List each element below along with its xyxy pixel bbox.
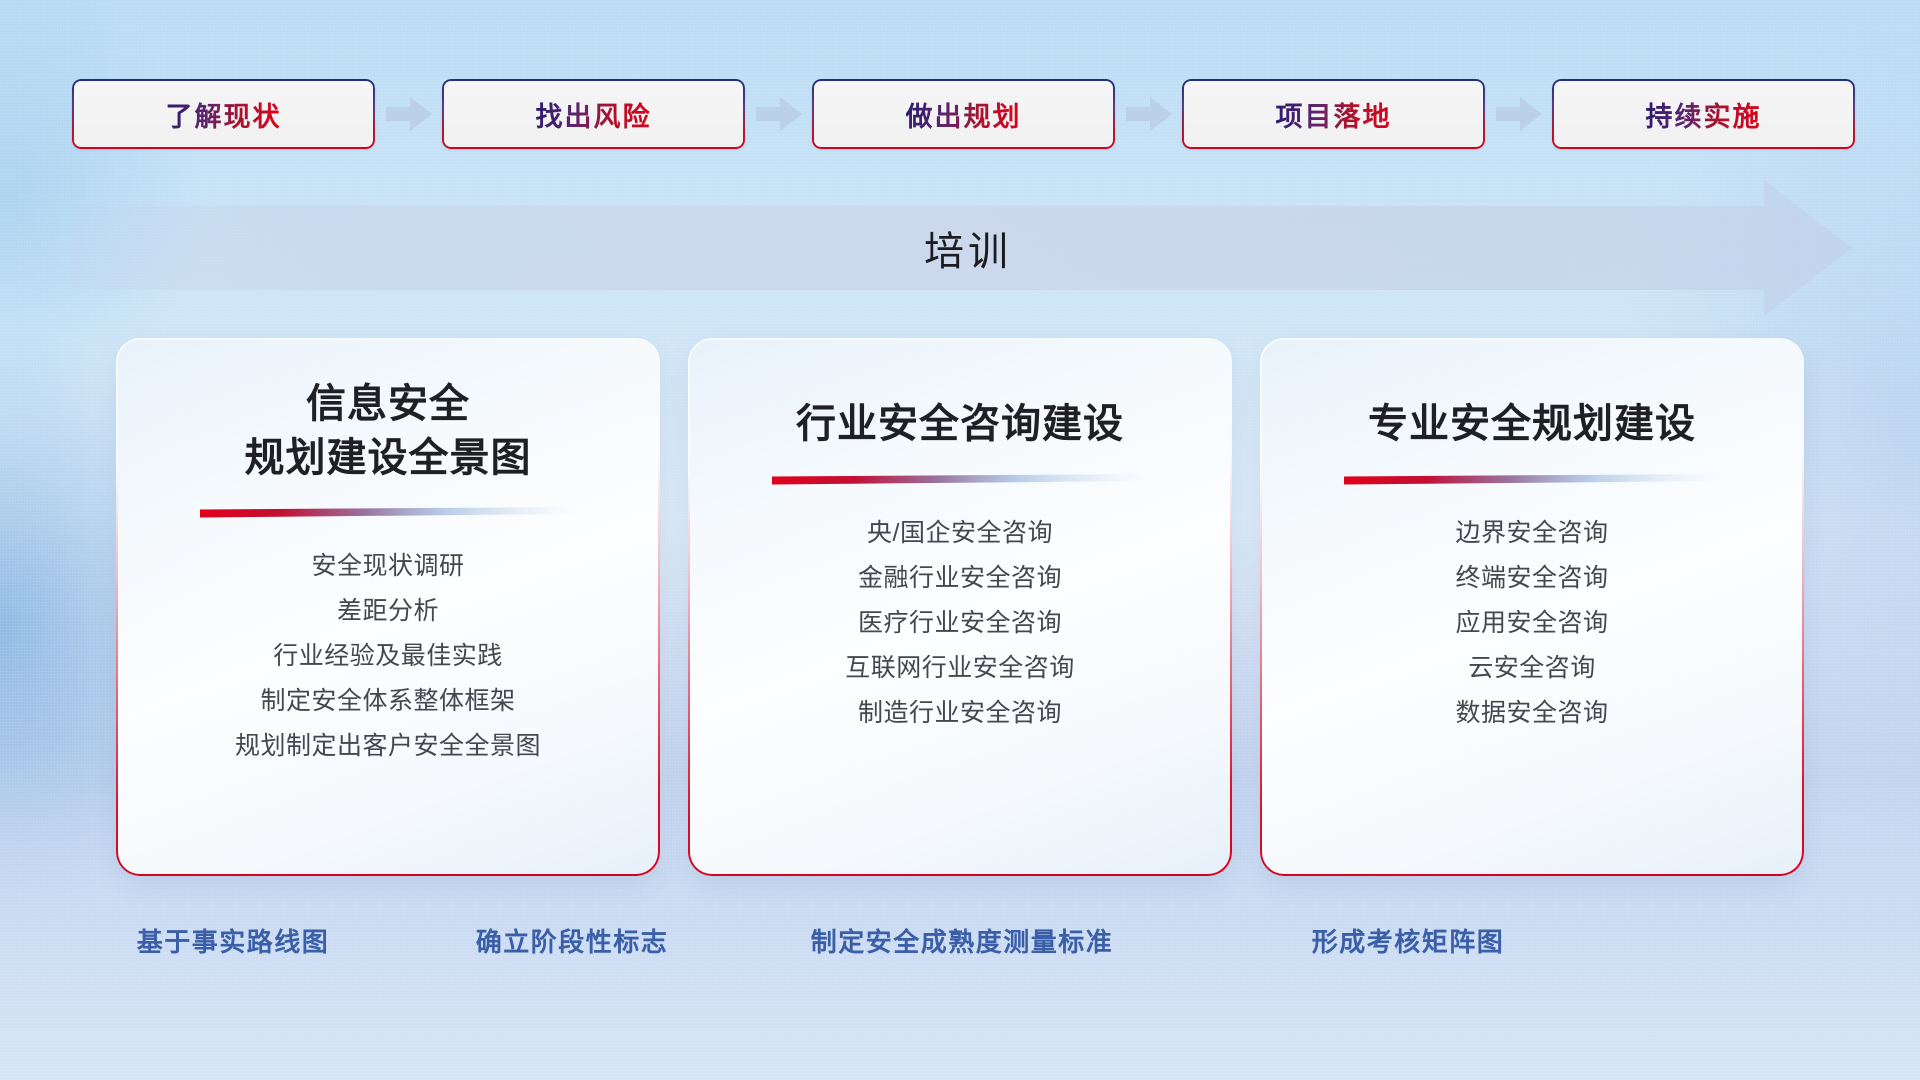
card-inner: 行业安全咨询建设 — [690, 340, 1230, 874]
list-item: 终端安全咨询 — [1262, 556, 1802, 601]
card-item-list: 央/国企安全咨询 金融行业安全咨询 医疗行业安全咨询 互联网行业安全咨询 制造行… — [690, 511, 1230, 736]
card-divider — [1344, 474, 1720, 485]
process-step-2[interactable]: 找出风险 — [442, 79, 745, 149]
list-item: 数据安全咨询 — [1262, 691, 1802, 736]
list-item: 制定安全体系整体框架 — [118, 679, 658, 724]
card-title: 行业安全咨询建设 — [690, 398, 1230, 452]
process-step-label: 做出规划 — [906, 95, 1022, 134]
caption-roadmap: 基于事实路线图 — [118, 905, 348, 975]
card-title-line-1: 信息安全 — [118, 378, 658, 432]
caption-assessment-matrix: 形成考核矩阵图 — [1268, 905, 1548, 975]
card-divider — [772, 474, 1148, 485]
list-item: 医疗行业安全咨询 — [690, 601, 1230, 646]
card-info-security-panorama[interactable]: 信息安全 规划建设全景图 — [118, 340, 658, 874]
card-title: 专业安全规划建设 — [1262, 398, 1802, 452]
list-item: 制造行业安全咨询 — [690, 691, 1230, 736]
card-item-list: 边界安全咨询 终端安全咨询 应用安全咨询 云安全咨询 数据安全咨询 — [1262, 511, 1802, 736]
process-step-4[interactable]: 项目落地 — [1182, 79, 1485, 149]
process-step-label: 持续实施 — [1646, 95, 1762, 134]
list-item: 应用安全咨询 — [1262, 601, 1802, 646]
arrow-right-icon — [1115, 79, 1182, 149]
list-item: 互联网行业安全咨询 — [690, 646, 1230, 691]
caption-milestones: 确立阶段性标志 — [452, 905, 692, 975]
list-item: 行业经验及最佳实践 — [118, 634, 658, 679]
list-item: 金融行业安全咨询 — [690, 556, 1230, 601]
list-item: 差距分析 — [118, 589, 658, 634]
card-divider — [200, 507, 576, 518]
arrow-right-icon — [745, 79, 812, 149]
card-inner: 信息安全 规划建设全景图 — [118, 340, 658, 874]
process-step-label: 找出风险 — [536, 95, 652, 134]
process-step-5[interactable]: 持续实施 — [1552, 79, 1855, 149]
process-step-label: 了解现状 — [166, 95, 282, 134]
training-banner-label: 培训 — [0, 178, 1920, 318]
caption-maturity-standard: 制定安全成熟度测量标准 — [762, 905, 1162, 975]
card-professional-security-planning[interactable]: 专业安全规划建设 — [1262, 340, 1802, 874]
card-item-list: 安全现状调研 差距分析 行业经验及最佳实践 制定安全体系整体框架 规划制定出客户… — [118, 544, 658, 769]
process-flow: 了解现状 找出风险 做出规划 项目落地 持续实施 — [72, 78, 1856, 150]
card-row: 信息安全 规划建设全景图 — [0, 340, 1920, 874]
arrow-right-icon — [1485, 79, 1552, 149]
card-title-line-1: 行业安全咨询建设 — [690, 398, 1230, 452]
process-step-3[interactable]: 做出规划 — [812, 79, 1115, 149]
card-inner: 专业安全规划建设 — [1262, 340, 1802, 874]
list-item: 安全现状调研 — [118, 544, 658, 589]
card-title-line-2: 规划建设全景图 — [118, 432, 658, 486]
card-title-line-1: 专业安全规划建设 — [1262, 398, 1802, 452]
list-item: 央/国企安全咨询 — [690, 511, 1230, 556]
card-industry-security-consulting[interactable]: 行业安全咨询建设 — [690, 340, 1230, 874]
arrow-right-icon — [375, 79, 442, 149]
process-step-label: 项目落地 — [1276, 95, 1392, 134]
card-title: 信息安全 规划建设全景图 — [118, 378, 658, 485]
list-item: 规划制定出客户安全全景图 — [118, 724, 658, 769]
caption-row: 基于事实路线图 确立阶段性标志 制定安全成熟度测量标准 形成考核矩阵图 — [0, 905, 1920, 975]
list-item: 云安全咨询 — [1262, 646, 1802, 691]
list-item: 边界安全咨询 — [1262, 511, 1802, 556]
process-step-1[interactable]: 了解现状 — [72, 79, 375, 149]
